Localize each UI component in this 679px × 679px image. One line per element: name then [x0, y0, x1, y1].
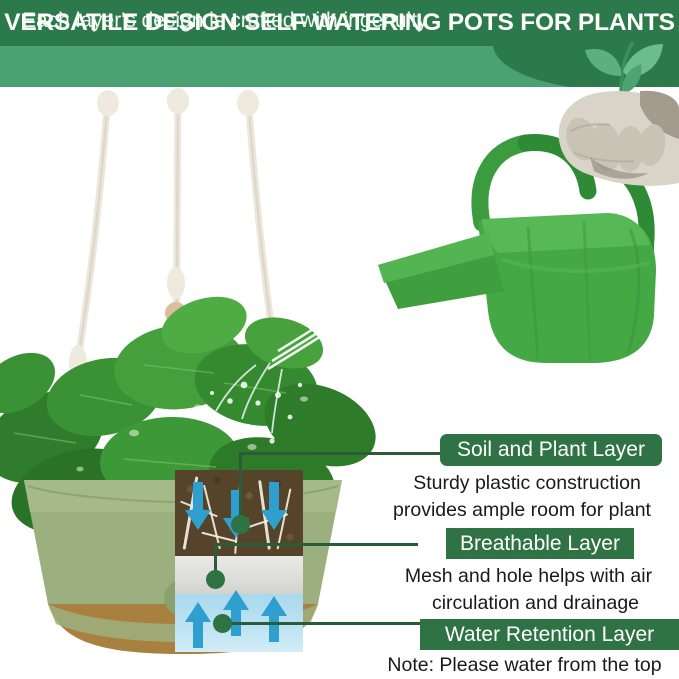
subtitle-text: Each layer's design is crafted with inge…	[22, 0, 428, 41]
note-water-from-top: Note: Please water from the top	[370, 652, 679, 679]
badge-breathable-layer[interactable]: Breathable Layer	[446, 528, 634, 559]
up-arrow-icon	[261, 596, 287, 642]
desc-soil-line-1: Sturdy plastic construction	[379, 470, 675, 497]
gloved-hand-icon	[520, 87, 679, 197]
water-splash-icon	[186, 277, 396, 457]
badge-soil-and-plant-layer[interactable]: Soil and Plant Layer	[440, 434, 662, 466]
connector-dot-breathable	[206, 570, 225, 589]
connector-line-water-horizontal	[221, 622, 420, 625]
connector-dot-water	[213, 614, 232, 633]
connector-line-breathable-horizontal	[214, 543, 418, 546]
down-arrow-icon	[261, 482, 287, 530]
desc-breathable-line-2: circulation and drainage	[396, 590, 675, 617]
connector-line-soil-horizontal	[239, 452, 441, 455]
infographic-canvas: VERSATILE DESIGN SELF WATERING POTS FOR …	[0, 0, 679, 679]
connector-line-soil-vertical	[239, 452, 242, 518]
up-arrow-icon	[185, 602, 211, 648]
connector-dot-soil	[231, 515, 250, 534]
desc-soil-line-2: provides ample room for plant	[369, 497, 675, 524]
desc-breathable-line-1: Mesh and hole helps with air	[382, 563, 675, 590]
connector-line-breathable-vertical	[214, 543, 217, 573]
down-arrow-icon	[185, 482, 211, 530]
badge-water-retention-layer[interactable]: Water Retention Layer	[420, 619, 679, 650]
